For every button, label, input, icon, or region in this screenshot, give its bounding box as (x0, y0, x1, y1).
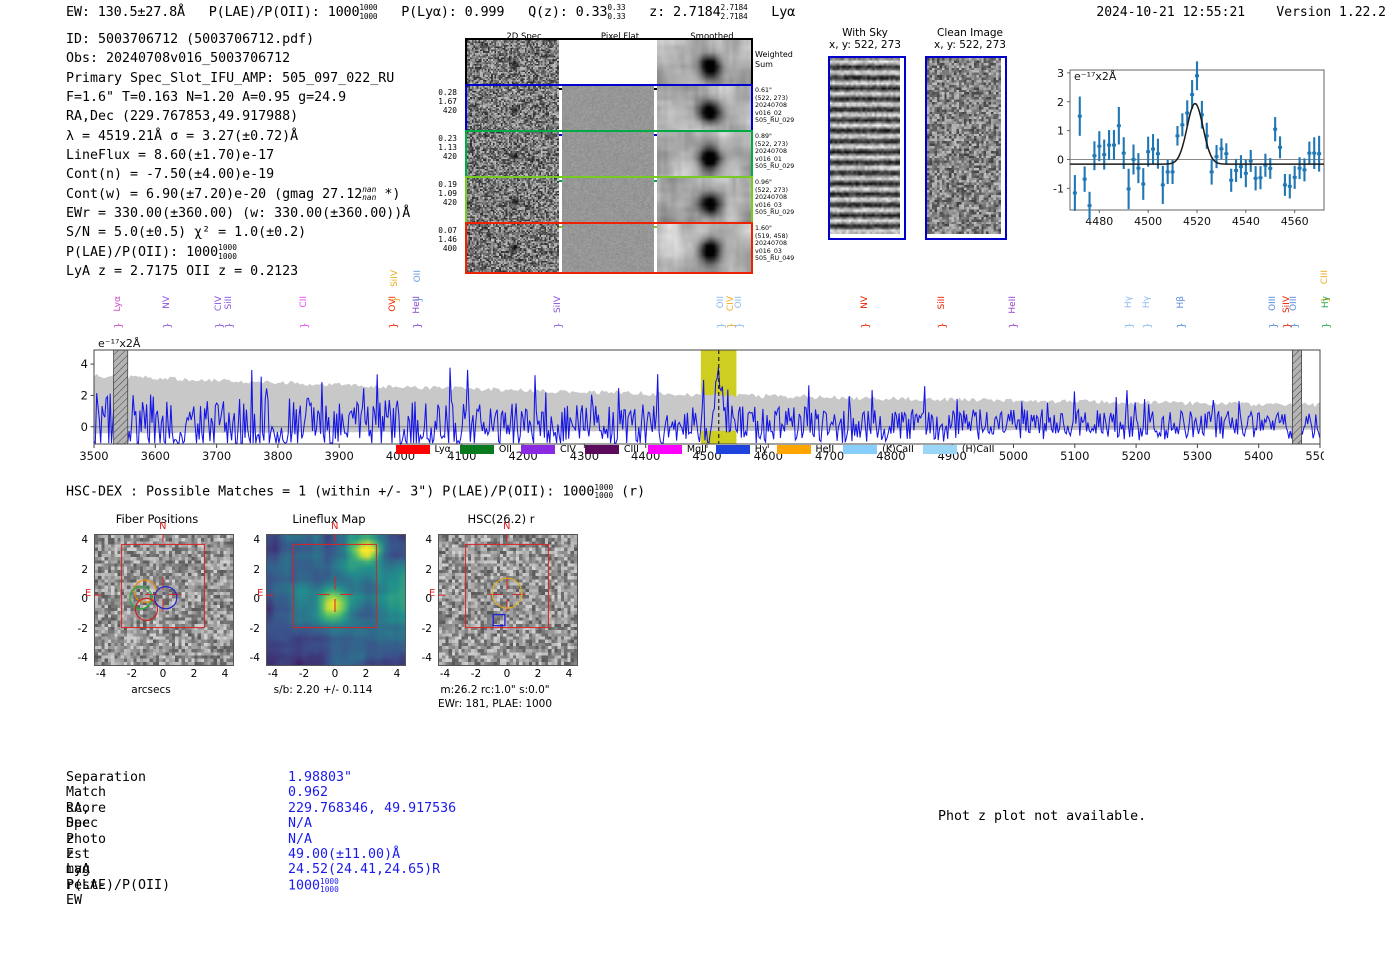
line-brace: { (299, 322, 310, 328)
dex-xtick: -2 (122, 668, 142, 680)
dex-ytick: 4 (414, 534, 432, 546)
dex-xtick: -4 (435, 668, 455, 680)
spec2d-row-stats: 0.071.46400 (423, 226, 457, 253)
dex-ytick: 2 (414, 564, 432, 576)
legend-item: OII (460, 444, 512, 455)
smoothed-cutout (657, 40, 751, 88)
clean-image-caption: Clean Image x, y: 522, 273 (918, 27, 1022, 51)
pixel-flat-cutout (562, 86, 654, 134)
pixel-flat-cutout (562, 132, 654, 180)
spec2d-row (465, 222, 753, 274)
spec2d-row (465, 130, 753, 182)
line-label-OII: OII (414, 270, 423, 282)
legend-swatch (521, 445, 555, 454)
line-label-H: Hβ (1177, 296, 1186, 309)
timestamp: 2024-10-21 12:55:21 (1096, 5, 1245, 20)
spec2d-row (465, 84, 753, 136)
dex-panel-title: HSC(26.2) r (412, 512, 590, 526)
dex-xtick: 2 (184, 668, 204, 680)
spec2d-row-meta: 1.60"(519, 458)20240708v016_03505_RU_049 (755, 225, 815, 263)
spec2d-row (465, 176, 753, 228)
z-line-name: Lyα (771, 4, 795, 20)
compass-east-label: E (85, 588, 91, 599)
legend-swatch (460, 445, 494, 454)
legend-label: Hγ (755, 444, 768, 455)
dex-ytick: 4 (70, 534, 88, 546)
spec2d-cutout (467, 224, 559, 272)
weighted-sum-label: WeightedSum (755, 50, 793, 69)
dex-caption-line1: s/b: 2.20 +/- 0.114 (240, 684, 406, 698)
info-lambda-sigma: λ = 4519.21Å σ = 3.27(±0.72)Å (66, 127, 410, 146)
info-plae: P(LAE)/P(OII): 100010001000 (66, 243, 410, 262)
line-label-SiIV: SiIV (554, 296, 563, 313)
spec2d-cutout (467, 86, 559, 134)
line-brace: { (552, 322, 563, 328)
svg-text:1: 1 (1057, 125, 1064, 138)
dex-ytick: -2 (242, 623, 260, 635)
dex-xtick: 0 (153, 668, 173, 680)
legend-item: (H)CaII (923, 444, 995, 455)
line-brace: { (860, 322, 871, 328)
line-brace: { (1142, 322, 1153, 328)
line-label-OII: OII (735, 296, 744, 308)
smoothed-cutout (657, 132, 751, 180)
compass-north-label: N (503, 521, 510, 532)
dex-caption-line1: m:26.2 rc:1.0" s:0.0" (412, 684, 578, 698)
line-brace: { (389, 296, 400, 302)
svg-text:4500: 4500 (1134, 215, 1162, 228)
compass-east-label: E (429, 588, 435, 599)
table-row-value: N/A (288, 816, 312, 831)
spec2d-row-stats: 0.231.13420 (423, 134, 457, 161)
table-row-value: N/A (288, 832, 312, 847)
dex-panel-overlay-0: NE (94, 534, 232, 664)
dex-xtick: 2 (528, 668, 548, 680)
emission-line-legend: LyαOIICIVCIIIMgIIHγHeII(K)CaII(H)CaII (66, 444, 1324, 455)
with-sky-caption: With Sky x, y: 522, 273 (818, 27, 912, 51)
dex-xtick: -4 (91, 668, 111, 680)
pixel-flat-cutout (562, 178, 654, 226)
smoothed-cutout (657, 224, 751, 272)
legend-item: MgII (648, 444, 707, 455)
table-row-key: P(LAE)/P(OII) (66, 878, 170, 893)
legend-label: CIV (560, 444, 576, 455)
svg-text:0: 0 (81, 420, 88, 434)
line-brace: { (112, 322, 123, 328)
legend-item: Hγ (716, 444, 768, 455)
info-ewr: EWr = 330.00(±360.00) (w: 330.00(±360.00… (66, 204, 410, 223)
legend-item: HeII (777, 444, 835, 455)
line-label-SiIV: SiIV (391, 270, 400, 287)
dex-ytick: -2 (70, 623, 88, 635)
plya-label: P(Lyα): (401, 4, 457, 20)
table-row-key: mag (66, 862, 90, 877)
dex-panel-caption: arcsecs (68, 684, 234, 698)
svg-text:2: 2 (81, 388, 88, 402)
table-row-value: 0.962 (288, 785, 328, 800)
table-value-fraction: 10001000 (320, 878, 339, 895)
timestamp-version: 2024-10-21 12:55:21 Version 1.22.2 (1096, 5, 1386, 20)
dex-xtick: 0 (497, 668, 517, 680)
svg-text:-1: -1 (1053, 182, 1064, 195)
compass-north-label: N (331, 521, 338, 532)
line-brace: { (224, 322, 235, 328)
info-plae-fraction: 10001000 (218, 244, 237, 261)
summary-header-line: EW: 130.5±27.8Å P(LAE)/P(OII): 100010001… (66, 4, 795, 21)
svg-text:4540: 4540 (1232, 215, 1260, 228)
dex-xtick: -4 (263, 668, 283, 680)
line-label-CIV: CIV (215, 296, 224, 311)
spec2d-cutout (467, 132, 559, 180)
plae-label: P(LAE)/P(OII): (209, 4, 320, 20)
z-label: z: (649, 4, 665, 20)
line-label-Ly: Lyα (114, 296, 123, 311)
dex-ytick: 2 (70, 564, 88, 576)
table-row-value: 49.00(±11.00)Å (288, 847, 400, 862)
line-brace: { (1321, 322, 1332, 328)
dex-xtick: 0 (325, 668, 345, 680)
qz-label: Q(z): (528, 4, 568, 20)
legend-label: Lyα (435, 444, 451, 455)
dex-panel-overlay-2: NE (438, 534, 576, 664)
legend-swatch (585, 445, 619, 454)
dex-ytick: -4 (70, 652, 88, 664)
info-cont-w: Cont(w) = 6.90(±7.20)e-20 (gmag 27.12nan… (66, 185, 410, 204)
dex-ytick: -4 (242, 652, 260, 664)
legend-label: (K)CaII (882, 444, 914, 455)
table-row-value: 24.52(24.41,24.65)R (288, 862, 440, 877)
dex-ytick: 2 (242, 564, 260, 576)
table-row-value: 229.768346, 49.917536 (288, 801, 456, 816)
detection-info-block: ID: 5003706712 (5003706712.pdf) Obs: 202… (66, 30, 410, 281)
spec2d-row-meta: 0.61"(522, 273)20240708v016_02505_RU_029 (755, 87, 815, 125)
line-brace: { (161, 322, 172, 328)
line-label-CII: CII (300, 296, 309, 308)
line-label-NV: NV (163, 296, 172, 309)
photz-unavailable-message: Phot z plot not available. (938, 809, 1146, 824)
info-radec: RA,Dec (229.767853,49.917988) (66, 107, 410, 126)
version-label: Version 1.22.2 (1276, 5, 1386, 20)
line-brace: { (411, 322, 422, 328)
legend-swatch (396, 445, 430, 454)
line-fit-plot: -1012344804500452045404560e⁻¹⁷x2Å (1040, 56, 1330, 236)
line-brace: { (937, 322, 948, 328)
dex-panel-title: Lineflux Map (240, 512, 418, 526)
info-obs: Obs: 20240708v016_5003706712 (66, 49, 410, 68)
svg-text:4: 4 (81, 357, 88, 371)
dex-ytick: 4 (242, 534, 260, 546)
spec2d-cutout (467, 178, 559, 226)
info-lineflux: LineFlux = 8.60(±1.70)e-17 (66, 146, 410, 165)
line-label-SiII: SiII (938, 296, 947, 310)
svg-text:e⁻¹⁷x2Å: e⁻¹⁷x2Å (1074, 70, 1117, 83)
spec2d-row-meta: 0.96"(522, 273)20240708v016_03505_RU_029 (755, 179, 815, 217)
legend-swatch (777, 445, 811, 454)
dex-ytick: -2 (414, 623, 432, 635)
info-seeing: F=1.6" T=0.163 N=1.20 A=0.95 g=24.9 (66, 88, 410, 107)
line-brace: { (1124, 322, 1135, 328)
compass-east-label: E (257, 588, 263, 599)
line-brace: { (734, 322, 745, 328)
dex-caption-line1: arcsecs (68, 684, 234, 698)
legend-item: CIV (521, 444, 576, 455)
legend-label: OII (499, 444, 512, 455)
dex-panel-caption: s/b: 2.20 +/- 0.114 (240, 684, 406, 698)
line-brace: { (1176, 322, 1187, 328)
table-row-value: 1.98803" (288, 770, 352, 785)
line-brace: { (388, 322, 399, 328)
legend-item: (K)CaII (843, 444, 914, 455)
line-brace: { (413, 296, 424, 302)
pixel-flat-cutout (562, 40, 654, 88)
spec2d-row (465, 38, 753, 90)
svg-text:4560: 4560 (1281, 215, 1309, 228)
dex-panel-title: Fiber Positions (68, 512, 246, 526)
dex-xtick: 4 (215, 668, 235, 680)
compass-north-label: N (159, 521, 166, 532)
dex-xtick: -2 (294, 668, 314, 680)
line-label-SiII: SiII (225, 296, 234, 310)
legend-label: (H)CaII (962, 444, 995, 455)
dex-plae-fraction: 10001000 (594, 484, 613, 501)
legend-item: CIII (585, 444, 639, 455)
info-id: ID: 5003706712 (5003706712.pdf) (66, 30, 410, 49)
line-brace: { (1268, 322, 1279, 328)
line-label-H: Hγ (1125, 296, 1134, 308)
line-brace: { (213, 322, 224, 328)
legend-item: Lyα (396, 444, 451, 455)
line-brace: { (1007, 322, 1018, 328)
plae-value: 1000 (328, 4, 360, 20)
spec2d-row-stats: 0.191.09420 (423, 180, 457, 207)
gmag-nan-fraction: nannan (362, 186, 376, 203)
full-spectrum-plot: 0243500360037003800390040004100420043004… (66, 268, 1324, 468)
z-fraction: 2.71842.7184 (721, 4, 748, 21)
ew-value: 130.5±27.8Å (98, 4, 185, 20)
legend-swatch (648, 445, 682, 454)
info-cont-n: Cont(n) = -7.50(±4.00)e-19 (66, 165, 410, 184)
table-row-value: 100010001000 (288, 878, 339, 895)
line-label-OIII: OIII (1290, 296, 1299, 311)
clean-image (925, 56, 1007, 240)
line-brace: { (1289, 322, 1300, 328)
plae-fraction: 10001000 (359, 4, 377, 21)
dex-xtick: 2 (356, 668, 376, 680)
line-label-NV: NV (861, 296, 870, 309)
hsc-dex-header: HSC-DEX : Possible Matches = 1 (within +… (66, 484, 645, 501)
plya-value: 0.999 (465, 4, 505, 20)
smoothed-cutout (657, 86, 751, 134)
dex-ytick: -4 (414, 652, 432, 664)
z-value: 2.7184 (673, 4, 721, 20)
line-label-HeII: HeII (1009, 296, 1018, 314)
full-spectrum-svg: 0243500360037003800390040004100420043004… (66, 268, 1324, 468)
legend-swatch (843, 445, 877, 454)
qz-value: 0.33 (576, 4, 608, 20)
legend-label: HeII (816, 444, 835, 455)
with-sky-image (828, 56, 906, 240)
smoothed-cutout (657, 178, 751, 226)
line-label-H: Hγ (1143, 296, 1152, 308)
legend-swatch (716, 445, 750, 454)
pixel-flat-cutout (562, 224, 654, 272)
ew-label: EW: (66, 4, 90, 20)
svg-text:4520: 4520 (1183, 215, 1211, 228)
line-label-OII: OII (717, 296, 726, 308)
line-label-OIII: OIII (1269, 296, 1278, 311)
dex-xtick: 4 (387, 668, 407, 680)
svg-text:3: 3 (1057, 67, 1064, 80)
dex-xtick: -2 (466, 668, 486, 680)
line-fit-svg: -1012344804500452045404560e⁻¹⁷x2Å (1040, 56, 1330, 236)
legend-label: MgII (687, 444, 707, 455)
table-row-key: Separation (66, 770, 146, 785)
spec2d-cutout (467, 40, 559, 88)
info-spec-slot: Primary Spec_Slot_IFU_AMP: 505_097_022_R… (66, 69, 410, 88)
dex-panel-caption: m:26.2 rc:1.0" s:0.0"EWr: 181, PLAE: 100… (412, 684, 578, 711)
line-label-H: Hγ (1322, 296, 1331, 308)
legend-label: CIII (624, 444, 639, 455)
dex-xtick: 4 (559, 668, 579, 680)
dex-caption-line2: EWr: 181, PLAE: 1000 (412, 698, 578, 712)
svg-text:2: 2 (1057, 96, 1064, 109)
svg-text:0: 0 (1057, 153, 1064, 166)
legend-swatch (923, 445, 957, 454)
spec2d-row-stats: 0.281.67420 (423, 88, 457, 115)
info-sn-chi2: S/N = 5.0(±0.5) χ² = 1.0(±0.2) (66, 223, 410, 242)
line-label-CIII: CIII (1321, 270, 1330, 284)
dex-panel-overlay-1: NE (266, 534, 404, 664)
svg-text:e⁻¹⁷x2Å: e⁻¹⁷x2Å (98, 337, 141, 350)
qz-fraction: 0.330.33 (607, 4, 625, 21)
spec2d-row-meta: 0.89"(522, 273)20240708v016_01505_RU_029 (755, 133, 815, 171)
